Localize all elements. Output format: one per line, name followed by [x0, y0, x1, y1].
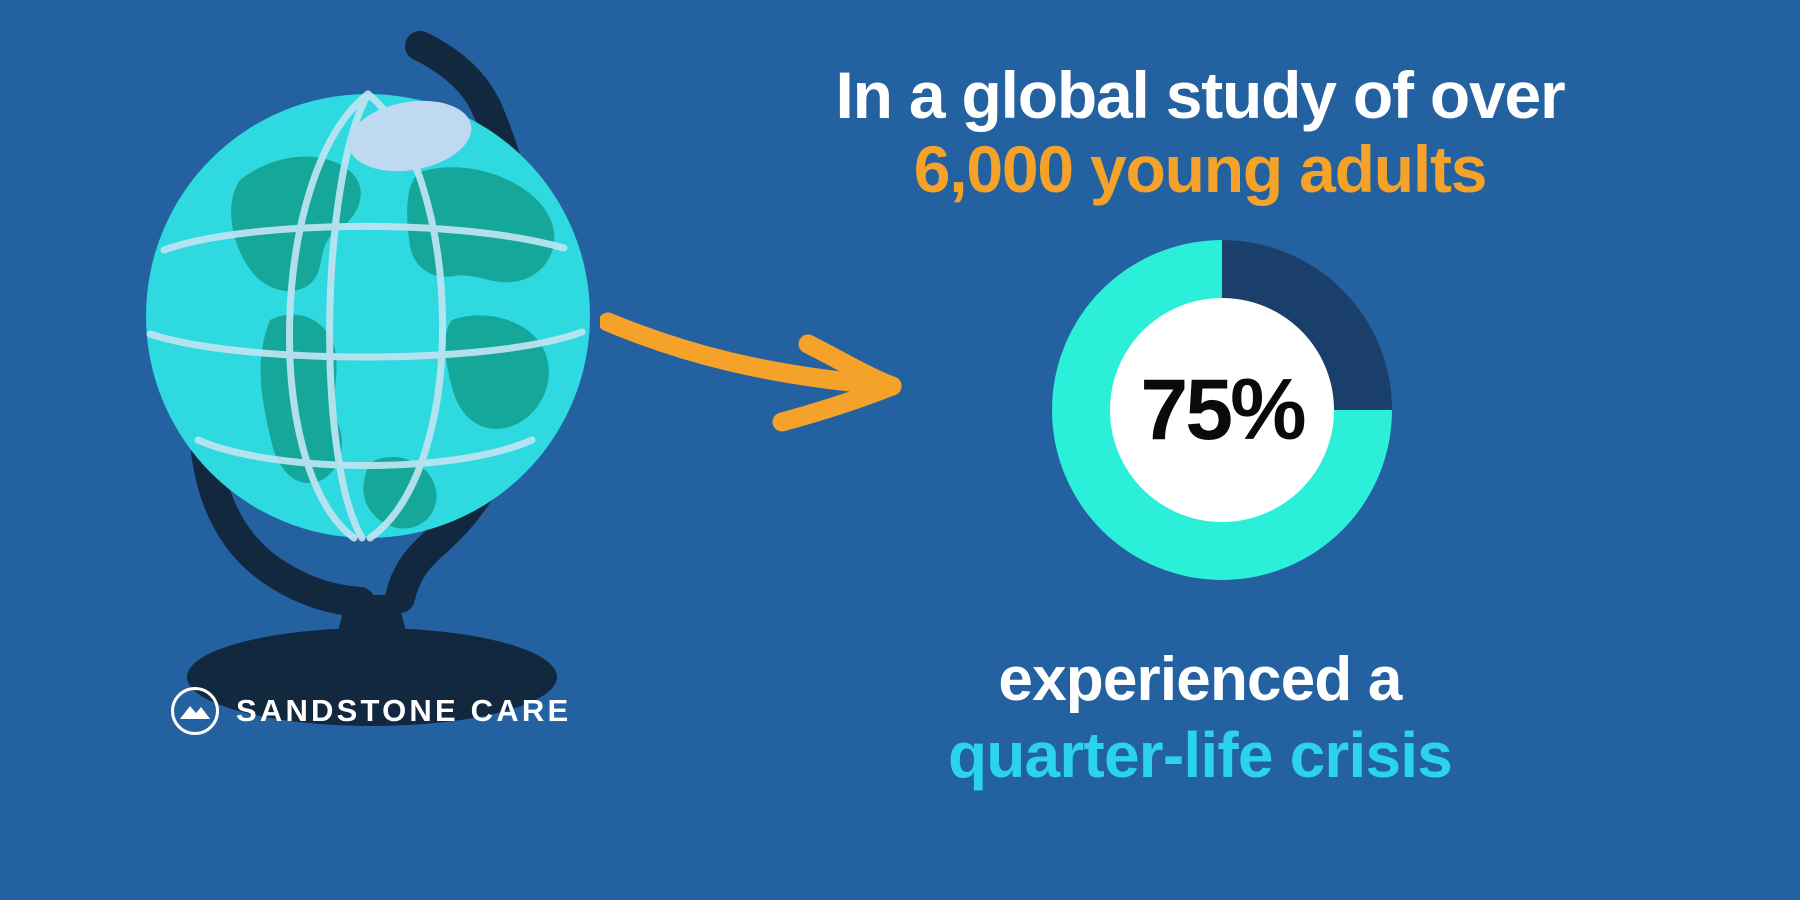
mountain-circle-logo-icon — [170, 686, 220, 736]
orange-arrow-icon — [600, 300, 940, 440]
brand-logo-text: SANDSTONE CARE — [236, 693, 571, 729]
subtext-line-1: experienced a — [640, 648, 1760, 711]
headline-line-2-accent: 6,000 young adults — [640, 136, 1760, 202]
infographic-canvas: In a global study of over 6,000 young ad… — [0, 0, 1800, 900]
donut-chart-icon: 75% — [1052, 240, 1392, 580]
subtext: experienced a quarter-life crisis — [640, 648, 1760, 789]
brand-logo: SANDSTONE CARE — [170, 686, 571, 736]
headline-line-1: In a global study of over — [640, 62, 1760, 128]
headline: In a global study of over 6,000 young ad… — [640, 62, 1760, 202]
subtext-line-2-highlight: quarter-life crisis — [640, 723, 1760, 788]
